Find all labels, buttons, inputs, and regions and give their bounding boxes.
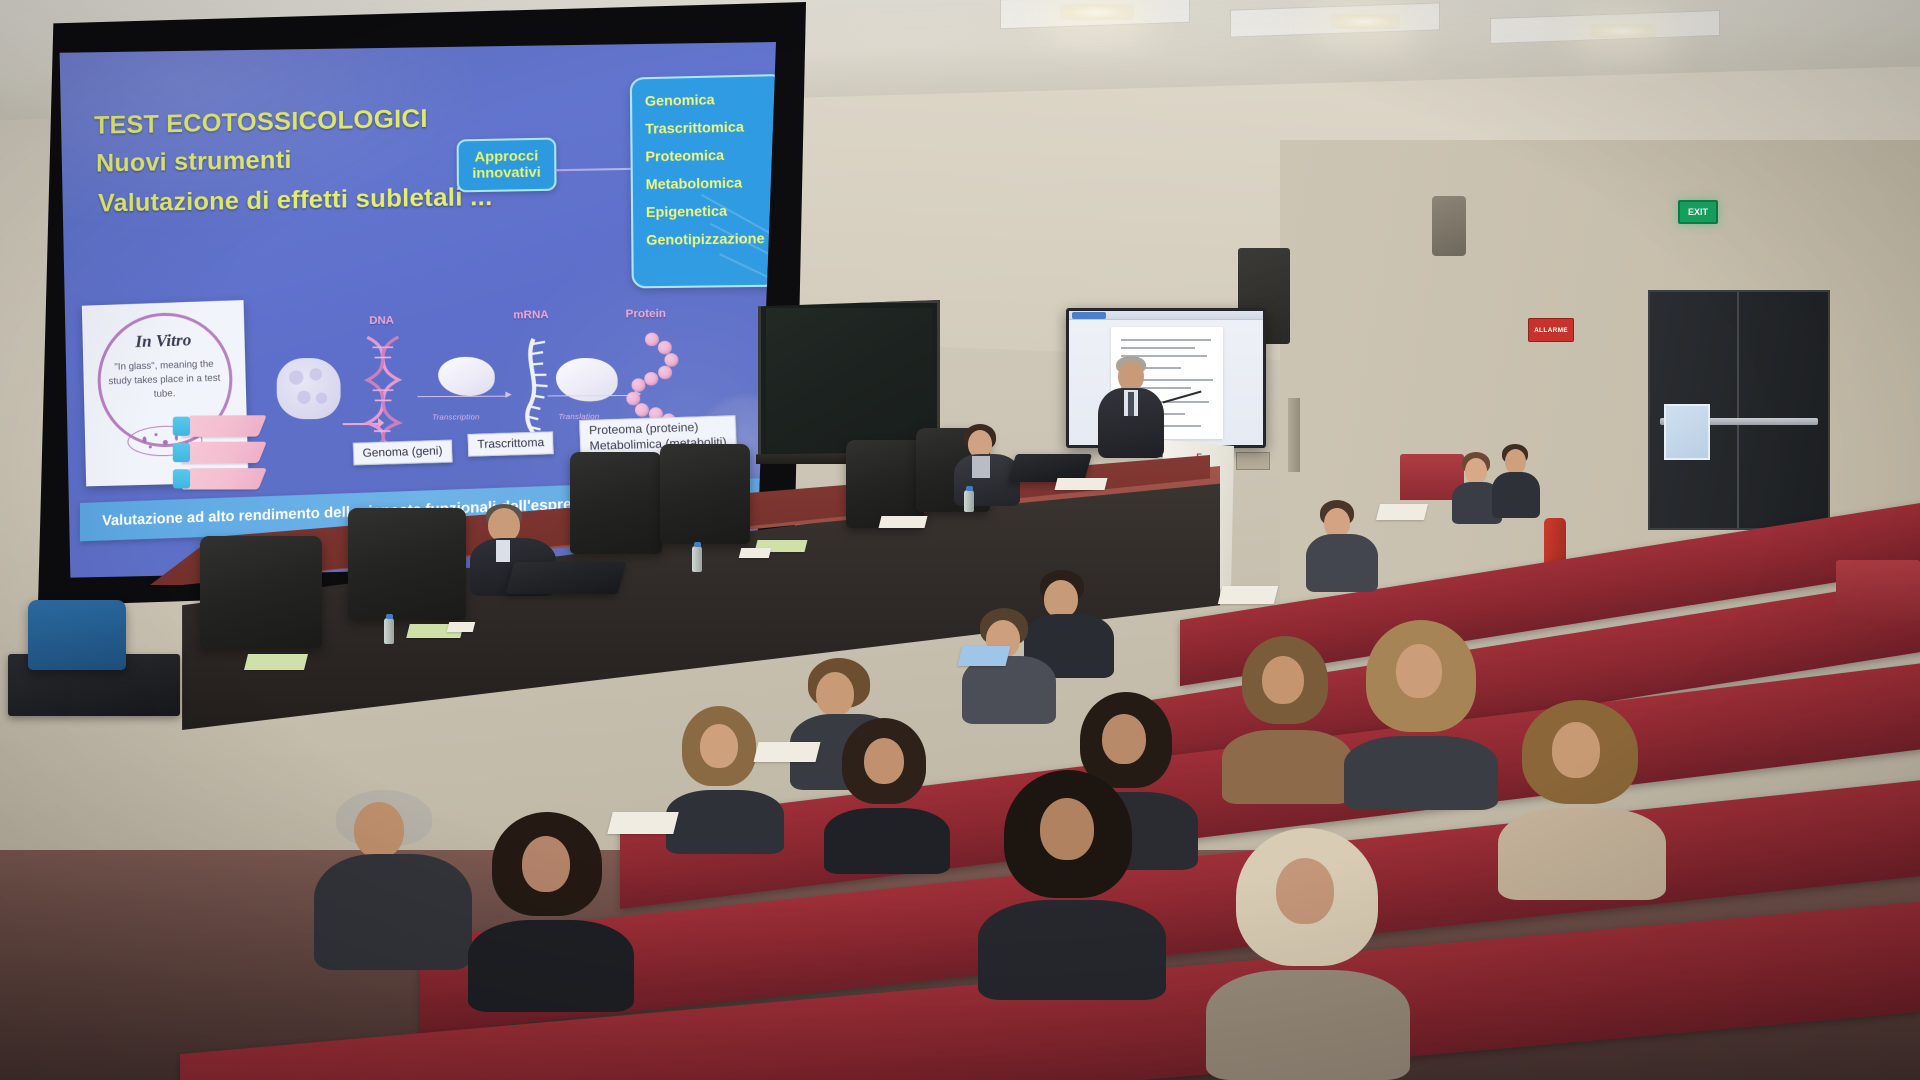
audience-member (468, 812, 636, 1012)
desk-paper (244, 654, 308, 670)
slide-title-line-3: Valutazione di effetti subletali ... (98, 183, 493, 219)
audience-member (824, 718, 952, 874)
water-bottle (384, 618, 394, 644)
door-poster (1664, 404, 1710, 460)
box-connector-line (555, 168, 633, 171)
wall-speaker (1432, 196, 1466, 256)
ceiling-light (1060, 4, 1134, 20)
approcci-innovativi-box: Approcci innovativi (457, 137, 557, 192)
panelist-right-scarf (972, 456, 990, 478)
bottle-cap (694, 542, 701, 547)
blackboard-surface (766, 308, 932, 452)
lecture-hall-scene: TEST ECOTOSSICOLOGICI Nuovi strumenti Va… (0, 0, 1920, 1080)
speaker-tie (1128, 392, 1134, 416)
front-chair-blue[interactable] (28, 600, 126, 670)
mrna-graphic (520, 338, 544, 437)
stage-laptop[interactable] (505, 562, 626, 594)
wall-mount-bracket (1288, 398, 1300, 472)
audience-paper (1218, 586, 1278, 604)
stage-chair[interactable] (660, 444, 750, 544)
stage-chair[interactable] (846, 440, 924, 528)
alarm-sign: ALLARME (1528, 318, 1574, 342)
ceiling-light (1590, 24, 1656, 38)
panelist-left-head (488, 508, 520, 542)
omics-item: Metabolomica (646, 174, 776, 192)
audience-member (1306, 500, 1380, 592)
pathway-label-protein: Protein (625, 308, 666, 321)
stage-chair[interactable] (348, 508, 466, 620)
stage-chair[interactable] (200, 536, 322, 648)
audience-paper (607, 812, 678, 834)
bottle-cap (386, 614, 393, 619)
audience-seat-back[interactable] (1836, 560, 1920, 620)
blackboard (758, 300, 940, 460)
ribosome-graphic (438, 357, 495, 396)
water-bottle (692, 546, 702, 572)
exit-sign: EXIT (1678, 200, 1718, 224)
desk-paper (447, 622, 475, 632)
cell-graphic (277, 358, 341, 419)
audience-member (1492, 444, 1542, 518)
process-label-transcription: Transcription (432, 412, 480, 421)
audience-paper (754, 742, 821, 762)
wall-outlet-box (1236, 452, 1270, 470)
arrow-translation (548, 395, 635, 397)
audience-member (978, 770, 1168, 1000)
audience-member (1222, 636, 1354, 804)
desk-paper (879, 516, 928, 528)
panelist-left-shirt (496, 540, 510, 562)
cell-culture-flasks (175, 411, 269, 509)
desk-paper (1055, 478, 1108, 490)
desk-paper (739, 548, 771, 558)
pathway-label-dna: DNA (369, 315, 394, 327)
approcci-line-2: innovativi (472, 164, 541, 181)
slide-title-line-1: TEST ECOTOSSICOLOGICI (94, 105, 428, 141)
bottle-cap (966, 486, 973, 491)
speaker-at-podium (1096, 356, 1172, 456)
audience-tablet[interactable] (958, 646, 1011, 666)
audience-paper (1376, 504, 1428, 520)
arrow-head-icon (505, 392, 511, 398)
dna-helix-graphic (361, 335, 405, 446)
water-bottle (964, 490, 974, 512)
caption-box-trascrittoma: Trascrittoma (468, 431, 555, 456)
audience-member (314, 790, 474, 970)
audience-member (962, 608, 1058, 724)
in-vitro-description: "In glass", meaning the study takes plac… (103, 357, 226, 403)
omics-item: Trascrittomica (645, 118, 776, 136)
omics-list-box: Genomica Trascrittomica Proteomica Metab… (630, 74, 776, 289)
audience-member (1498, 700, 1668, 900)
pathway-label-mrna: mRNA (513, 309, 549, 322)
arrow-transcription (417, 396, 505, 398)
audience-member (1206, 828, 1412, 1080)
stage-chair[interactable] (570, 452, 662, 554)
slide-title-line-2: Nuovi strumenti (96, 146, 292, 179)
ceiling-light (1330, 14, 1400, 29)
monitor-browser-tab (1072, 312, 1106, 319)
omics-item: Proteomica (645, 146, 776, 164)
caption-box-genoma: Genoma (geni) (353, 440, 452, 465)
door-center-split (1737, 292, 1739, 528)
audience-member (666, 706, 786, 854)
omics-item: Genomica (645, 90, 776, 108)
audience-member (1344, 620, 1500, 810)
omics-item: Genotipizzazione (646, 230, 776, 248)
omics-item: Epigenetica (646, 202, 776, 220)
speaker-head (1118, 361, 1144, 391)
